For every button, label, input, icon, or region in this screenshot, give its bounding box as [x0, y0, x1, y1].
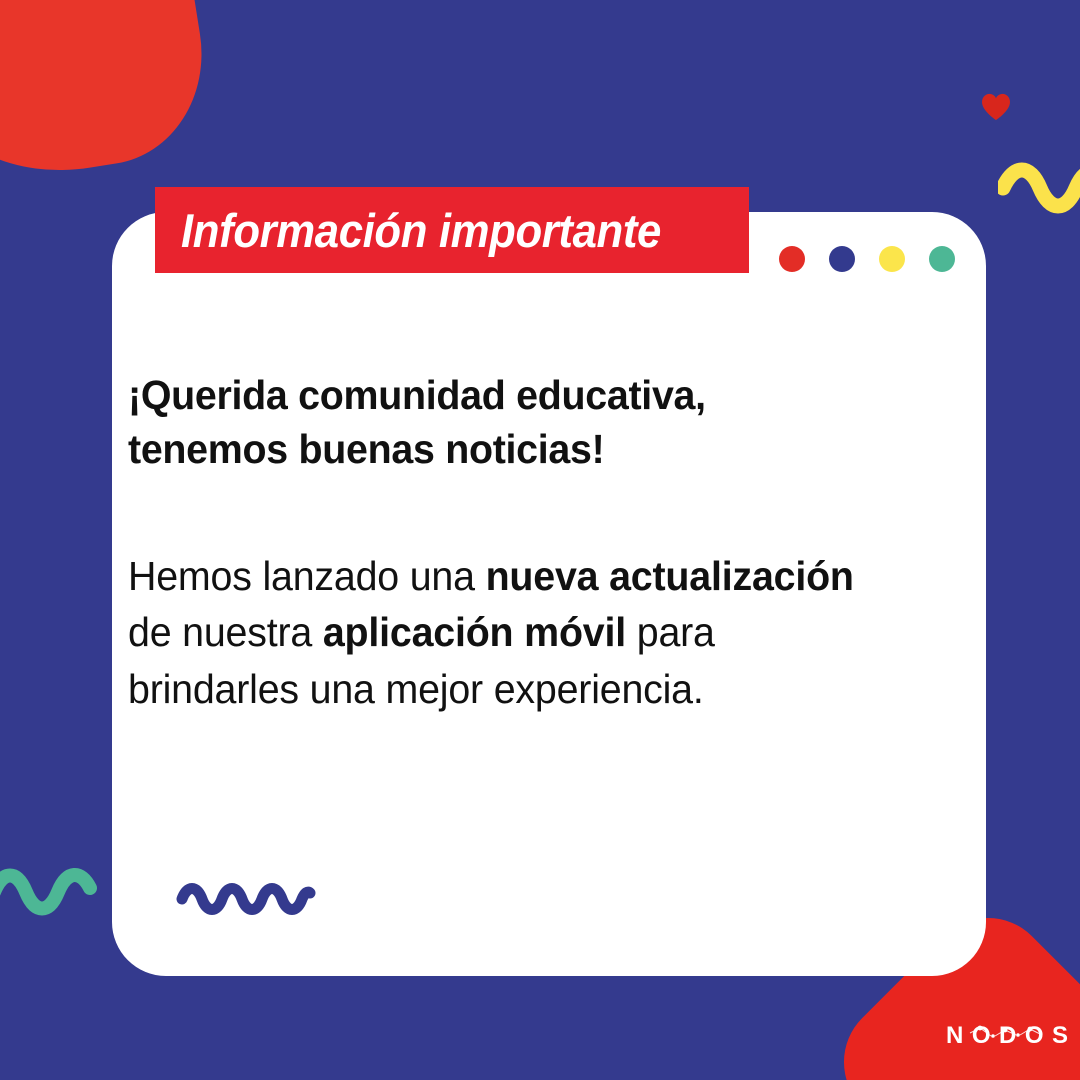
squiggle-teal-shape — [0, 862, 100, 918]
heart-icon — [981, 93, 1011, 121]
headline: ¡Querida comunidad educativa, tenemos bu… — [128, 368, 867, 476]
dot-red-icon — [779, 246, 805, 272]
paragraph-segment-2: de nuestra — [128, 609, 323, 655]
nodos-logo-text: NODOS — [946, 1022, 1068, 1047]
card-body: ¡Querida comunidad educativa, tenemos bu… — [128, 368, 898, 717]
blob-top-left-shape — [0, 0, 218, 190]
body-paragraph: Hemos lanzado una nueva actualización de… — [128, 476, 867, 716]
paragraph-bold-1: nueva actualización — [486, 553, 854, 599]
squiggle-yellow-shape — [998, 158, 1080, 214]
window-dots — [779, 246, 955, 272]
headline-line-1: ¡Querida comunidad educativa, — [128, 368, 867, 422]
poster-canvas: Información importante ¡Querida comunida… — [0, 0, 1080, 1080]
dot-yellow-icon — [879, 246, 905, 272]
banner: Información importante — [155, 187, 749, 273]
headline-line-2: tenemos buenas noticias! — [128, 422, 867, 476]
nodos-logo: NODOS — [944, 1017, 1068, 1047]
dot-teal-icon — [929, 246, 955, 272]
dot-blue-icon — [829, 246, 855, 272]
page-title: Información importante — [155, 203, 661, 258]
paragraph-segment-1: Hemos lanzado una — [128, 553, 486, 599]
paragraph-bold-2: aplicación móvil — [323, 609, 626, 655]
squiggle-blue-shape — [176, 880, 316, 918]
